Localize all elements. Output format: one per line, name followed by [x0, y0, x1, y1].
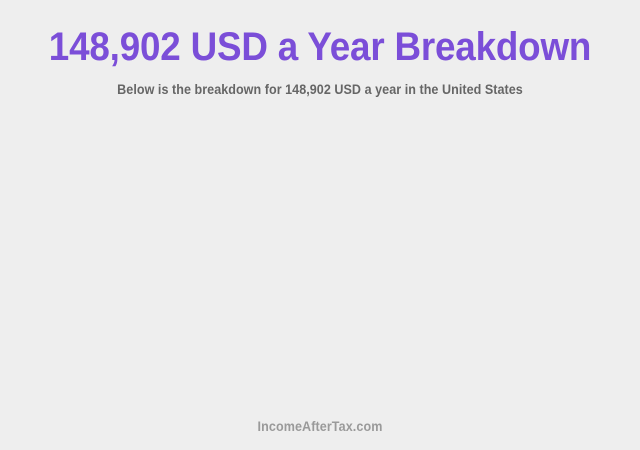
- breakdown-content-area: [0, 98, 640, 419]
- site-credit-label: IncomeAfterTax.com: [22, 419, 617, 435]
- page-footer: IncomeAfterTax.com: [0, 419, 640, 450]
- breakdown-page: 148,902 USD a Year Breakdown Below is th…: [0, 0, 640, 450]
- page-subtitle: Below is the breakdown for 148,902 USD a…: [22, 81, 617, 98]
- page-header: 148,902 USD a Year Breakdown Below is th…: [0, 0, 640, 98]
- page-title: 148,902 USD a Year Breakdown: [26, 24, 615, 70]
